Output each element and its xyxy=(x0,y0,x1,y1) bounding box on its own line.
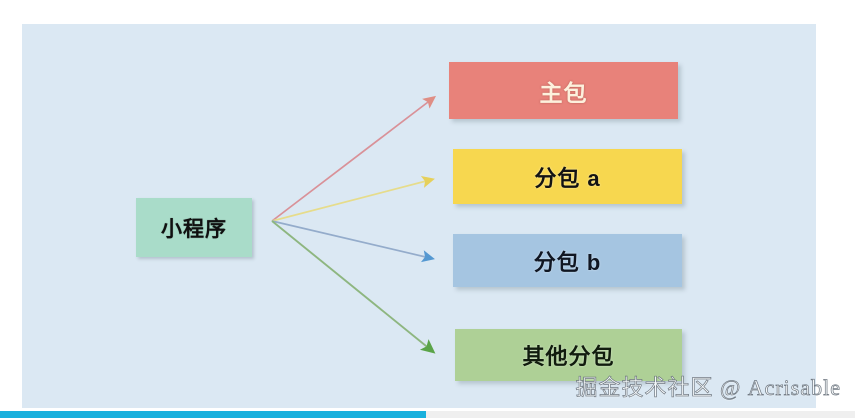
node-mini-program-label: 小程序 xyxy=(161,213,227,243)
node-sub-package-b[interactable]: 分包 b xyxy=(453,234,682,287)
video-progress-bar[interactable] xyxy=(0,411,855,418)
node-main-package-label: 主包 xyxy=(540,74,588,108)
video-progress-fill xyxy=(0,411,426,418)
node-sub-package-b-label: 分包 b xyxy=(534,245,602,277)
node-main-package[interactable]: 主包 xyxy=(449,62,678,119)
node-sub-package-a[interactable]: 分包 a xyxy=(453,149,682,204)
screenshot-stage: 小程序 主包 分包 a 分包 b 其他分包 掘金技术社区 @ Acrisable xyxy=(0,0,855,418)
watermark-text: 掘金技术社区 @ Acrisable xyxy=(575,370,841,402)
node-other-packages-label: 其他分包 xyxy=(522,339,614,371)
node-sub-package-a-label: 分包 a xyxy=(534,161,600,193)
node-mini-program[interactable]: 小程序 xyxy=(136,198,252,257)
